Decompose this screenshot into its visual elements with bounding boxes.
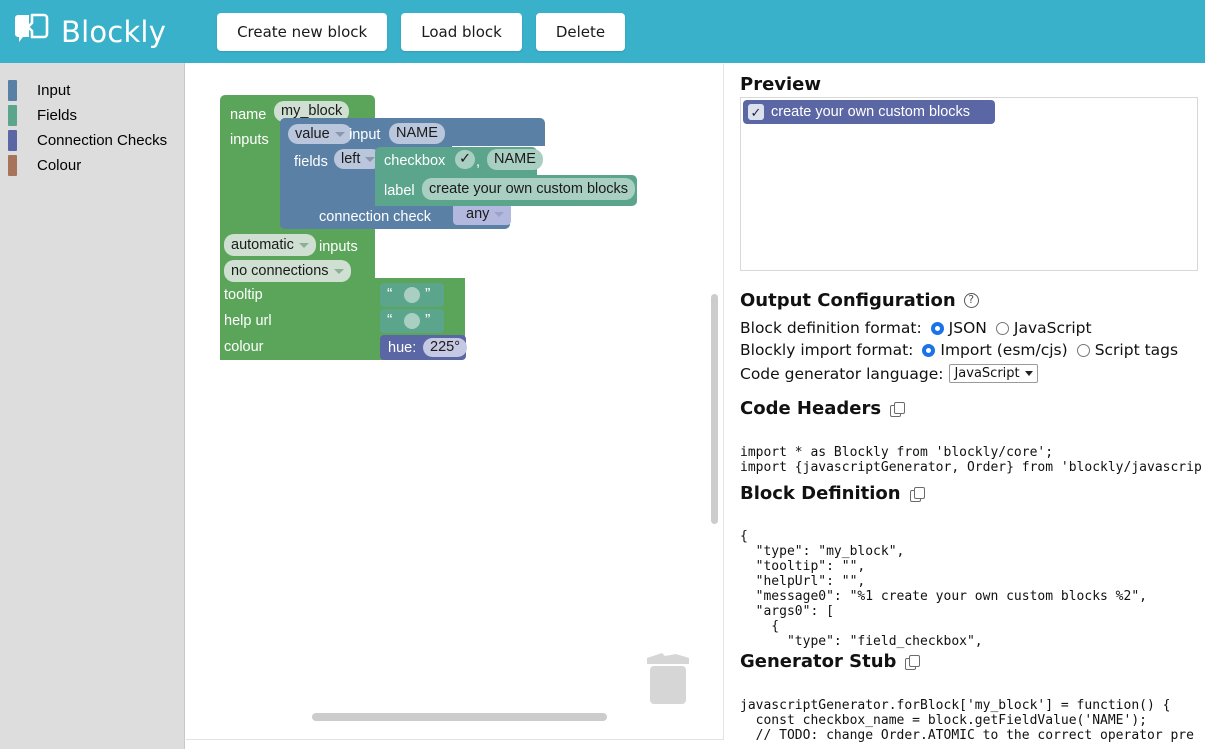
code-generator-language-label: Code generator language: (740, 365, 943, 383)
code-headers-title: Code Headers (740, 398, 881, 419)
input-type-value: value (295, 127, 330, 142)
preview-checkbox[interactable]: ✓ (748, 104, 764, 120)
preview-block[interactable]: ✓ create your own custom blocks (743, 100, 995, 124)
code-generator-language-select[interactable]: JavaScript (949, 364, 1037, 383)
chevron-down-icon (299, 243, 309, 248)
checkbox-name-field[interactable]: NAME (487, 149, 543, 170)
preview-block-label: create your own custom blocks (771, 104, 970, 120)
copy-icon[interactable] (890, 402, 904, 416)
toolbox-category-label: Connection Checks (37, 132, 167, 149)
checkbox-value-field[interactable]: ✓ (455, 150, 475, 169)
toolbox-category-fields[interactable]: Fields (0, 103, 184, 128)
category-color-swatch (8, 130, 17, 151)
chevron-down-icon (334, 269, 344, 274)
toolbox-category-label: Fields (37, 107, 77, 124)
input-name-field[interactable]: NAME (389, 123, 445, 144)
inputs-label: inputs (230, 133, 269, 148)
blockly-import-format-row: Blockly import format: Import (esm/cjs) … (740, 341, 1178, 359)
blockly-import-format-label: Blockly import format: (740, 341, 913, 359)
workspace-vertical-scrollbar[interactable] (711, 294, 718, 524)
tooltip-label: tooltip (224, 288, 263, 303)
chevron-down-icon (494, 212, 504, 217)
toolbox-category-label: Input (37, 82, 70, 99)
chevron-down-icon (365, 157, 375, 162)
generator-stub-code[interactable]: javascriptGenerator.forBlock['my_block']… (740, 698, 1205, 749)
chevron-down-icon (1025, 371, 1033, 376)
copy-icon[interactable] (910, 487, 924, 501)
radio-import-esm-cjs-label[interactable]: Import (esm/cjs) (940, 341, 1067, 359)
category-color-swatch (8, 105, 17, 126)
toolbox-category-input[interactable]: Input (0, 78, 184, 103)
create-new-block-button[interactable]: Create new block (217, 13, 387, 51)
help-circle-icon[interactable]: ? (964, 293, 979, 308)
code-headers-heading: Code Headers (740, 398, 904, 419)
quote-close-icon: ” (425, 287, 430, 303)
category-color-swatch (8, 80, 17, 101)
output-configuration-heading: Output Configuration ? (740, 290, 979, 311)
connection-check-label: connection check (319, 210, 431, 225)
toolbox-category-label: Colour (37, 157, 81, 174)
trash-can-icon[interactable] (643, 648, 693, 706)
checkbox-label: checkbox (384, 154, 445, 169)
value-input-plug-icon (980, 104, 989, 121)
checkbox-comma: , (476, 155, 480, 170)
toolbox-category-colour[interactable]: Colour (0, 153, 184, 178)
block-definition-format-row: Block definition format: JSON JavaScript (740, 319, 1092, 337)
name-label: name (230, 108, 266, 123)
label-label: label (384, 184, 415, 199)
brand-name: Blockly (61, 15, 166, 49)
chevron-down-icon (335, 132, 345, 137)
generator-stub-heading: Generator Stub (740, 651, 919, 672)
preview-area[interactable]: ✓ create your own custom blocks (740, 97, 1198, 271)
radio-script-tags[interactable] (1077, 344, 1090, 357)
connections-mode-dropdown[interactable]: no connections (224, 260, 351, 282)
quote-close-icon: ” (425, 313, 430, 329)
any-value: any (466, 207, 489, 222)
output-configuration-title: Output Configuration (740, 290, 956, 311)
category-color-swatch (8, 155, 17, 176)
load-block-button[interactable]: Load block (401, 13, 522, 51)
tooltip-value-field[interactable] (404, 287, 420, 303)
colour-label: colour (224, 340, 264, 355)
fields-label: fields (294, 155, 328, 170)
code-generator-language-row: Code generator language: JavaScript (740, 364, 1038, 383)
any-dropdown[interactable]: any (459, 206, 511, 222)
hue-value-field[interactable]: 225° (423, 338, 467, 357)
code-generator-language-value: JavaScript (954, 366, 1019, 381)
label-text-field[interactable]: create your own custom blocks (422, 178, 635, 200)
connections-mode-value: no connections (231, 264, 329, 279)
output-panel: Preview ✓ create your own custom blocks … (726, 64, 1205, 749)
block-definition-format-label: Block definition format: (740, 319, 922, 337)
blockly-logo-icon (12, 13, 50, 51)
workspace-horizontal-scrollbar[interactable] (312, 713, 607, 721)
radio-json[interactable] (931, 322, 944, 335)
delete-button[interactable]: Delete (536, 13, 625, 51)
radio-script-tags-label[interactable]: Script tags (1095, 341, 1178, 359)
helpurl-label: help url (224, 314, 272, 329)
inputs-mode-suffix: inputs (319, 240, 358, 255)
quote-open-icon: “ (387, 287, 392, 303)
fields-align-value: left (341, 152, 360, 167)
radio-import-esm-cjs[interactable] (922, 344, 935, 357)
code-headers-code[interactable]: import * as Blockly from 'blockly/core';… (740, 445, 1205, 479)
generator-stub-title: Generator Stub (740, 651, 896, 672)
block-definition-heading: Block Definition (740, 483, 924, 504)
input-type-dropdown[interactable]: value (288, 124, 352, 144)
block-workspace[interactable]: name my_block inputs value input NAME fi… (186, 64, 724, 740)
helpurl-value-field[interactable] (404, 313, 420, 329)
copy-icon[interactable] (905, 655, 919, 669)
radio-javascript[interactable] (996, 322, 1009, 335)
radio-javascript-label[interactable]: JavaScript (1014, 319, 1092, 337)
hue-label: hue: (388, 341, 416, 356)
quote-open-icon: “ (387, 313, 392, 329)
toolbox-sidebar: Input Fields Connection Checks Colour (0, 63, 185, 749)
block-definition-title: Block Definition (740, 483, 901, 504)
block-definition-code[interactable]: { "type": "my_block", "tooltip": "", "he… (740, 529, 1205, 654)
brand-logo[interactable]: Blockly (12, 13, 166, 51)
inputs-mode-dropdown[interactable]: automatic (224, 234, 316, 256)
app-header: Blockly Create new block Load block Dele… (0, 0, 1205, 63)
radio-json-label[interactable]: JSON (949, 319, 987, 337)
inputs-mode-value: automatic (231, 238, 294, 253)
toolbox-category-connection-checks[interactable]: Connection Checks (0, 128, 184, 153)
input-word-label: input (349, 128, 380, 143)
preview-heading: Preview (740, 74, 821, 95)
